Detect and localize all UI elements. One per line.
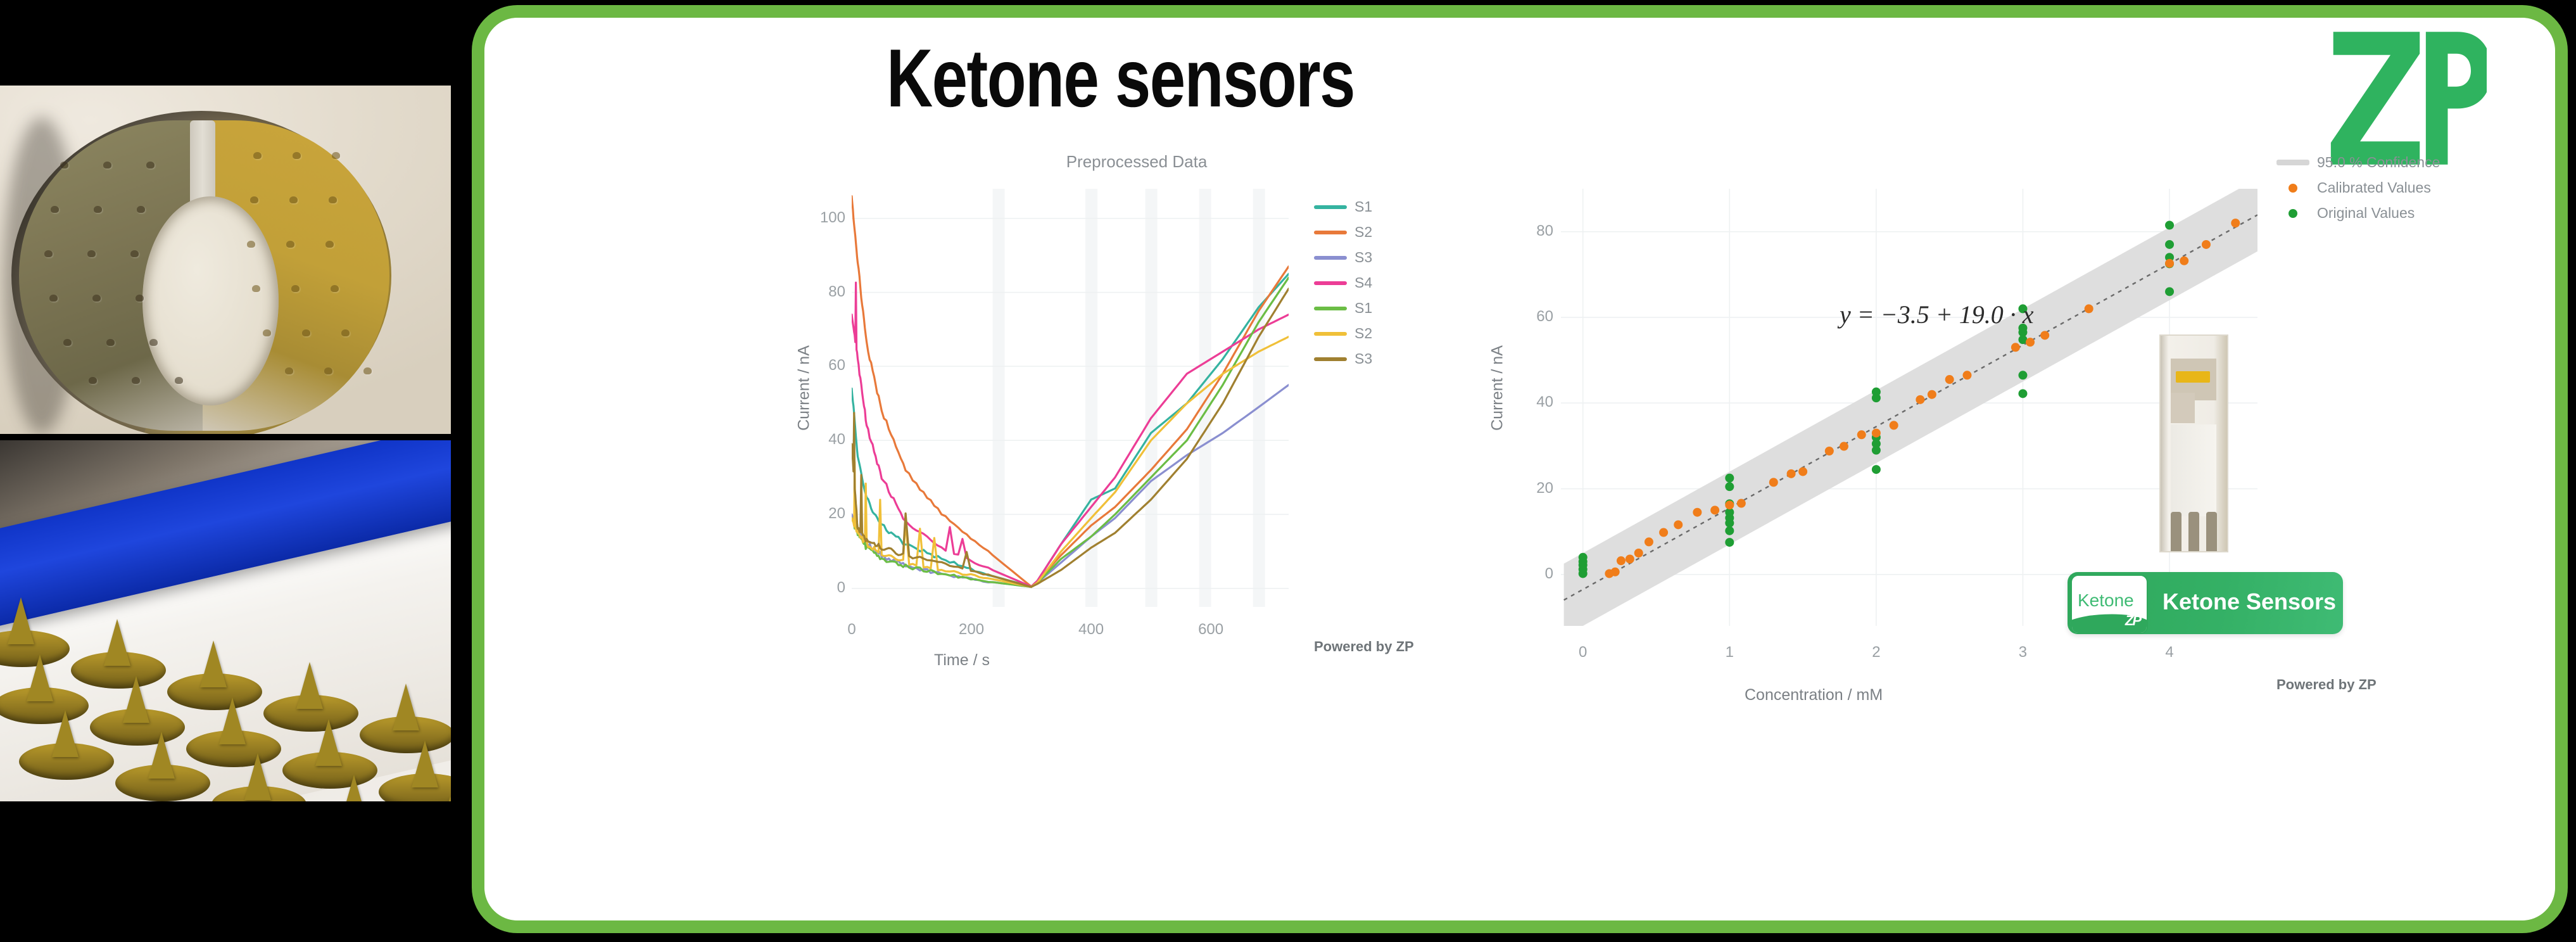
needle-dot	[341, 329, 350, 336]
needle-dot	[63, 339, 72, 346]
original-value-point	[1725, 474, 1734, 483]
needle-dot	[325, 241, 334, 248]
plot-area	[852, 189, 1289, 607]
y-tick-label: 20	[1522, 480, 1553, 497]
legend-item: S1	[1314, 198, 1372, 215]
shaded-band	[1199, 189, 1211, 607]
needle-dot	[103, 162, 111, 169]
legend-swatch	[2276, 160, 2309, 165]
y-tick-label: 60	[1522, 308, 1553, 326]
needle-dot	[175, 377, 183, 384]
strip-body	[2171, 424, 2216, 516]
needle-tip	[104, 619, 130, 666]
x-tick-label: 0	[1564, 644, 1602, 661]
preprocessed-data-chart: Preprocessed Data Current / nA Time / s …	[757, 163, 1517, 734]
calibrated-value-point	[1634, 549, 1643, 557]
chart-legend: 95.0 % ConfidenceCalibrated ValuesOrigin…	[2276, 154, 2440, 230]
line-S1	[852, 274, 1289, 587]
y-axis-label: Current / nA	[795, 325, 814, 452]
shaded-band	[993, 189, 1005, 607]
x-axis-label: Time / s	[934, 651, 990, 670]
calibrated-value-point	[2085, 304, 2093, 313]
plot-area	[1561, 189, 2257, 626]
needle-dot	[89, 377, 97, 384]
legend-swatch	[1314, 281, 1347, 285]
calibrated-value-point	[1787, 469, 1796, 478]
calibrated-value-point	[1617, 556, 1626, 565]
calibrated-value-point	[2231, 219, 2240, 227]
needle-dot	[87, 250, 96, 257]
y-tick-label: 80	[815, 283, 845, 301]
zp-logo-icon: ZP	[2125, 613, 2140, 629]
legend-label: S3	[1354, 350, 1372, 367]
calibrated-value-point	[1890, 421, 1898, 430]
zp-logo-icon	[2328, 25, 2487, 171]
original-value-point	[2018, 389, 2027, 398]
microneedle-patch-photo	[0, 86, 451, 434]
needle-dot	[329, 196, 337, 203]
y-tick-label: 60	[815, 357, 845, 374]
legend-dot	[2289, 184, 2297, 193]
legend-dot	[2289, 209, 2297, 218]
calibrated-value-point	[1798, 467, 1807, 476]
line-series-svg	[852, 189, 1289, 607]
original-value-point	[1872, 465, 1881, 474]
legend-label: Original Values	[2317, 205, 2415, 222]
calibrated-value-point	[1737, 499, 1746, 508]
chart-title: Preprocessed Data	[757, 152, 1517, 172]
legend-item: S2	[1314, 325, 1372, 342]
y-axis-label: Current / nA	[1489, 319, 1507, 458]
needle-dot	[263, 329, 271, 336]
needle-dot	[49, 295, 58, 302]
sensor-strip-inset-photo	[2159, 334, 2228, 552]
calibrated-value-point	[1945, 375, 1954, 384]
calibrated-value-point	[2026, 338, 2035, 347]
calibration-curve-chart: y = −3.5 + 19.0 · x Current / nA Concent…	[1434, 163, 2511, 778]
needle-dot	[132, 377, 140, 384]
needle-tip	[148, 732, 175, 779]
slide-content: Ketone sensors Preprocessed Data Current…	[484, 18, 2555, 920]
photo-column	[0, 0, 451, 942]
legend-item: Original Values	[2276, 205, 2440, 222]
x-tick-label: 0	[833, 621, 871, 639]
needle-dot	[149, 339, 158, 346]
x-tick-label: 200	[952, 621, 990, 639]
needle-dot	[146, 162, 155, 169]
legend-label: S3	[1354, 249, 1372, 266]
calibrated-value-point	[1693, 508, 1702, 517]
y-tick-label: 20	[815, 505, 845, 523]
needle-dot	[332, 152, 340, 159]
calibrated-value-point	[1962, 371, 1971, 379]
needle-dot	[302, 329, 310, 336]
x-tick-label: 3	[2004, 644, 2042, 661]
needle-tip	[315, 719, 342, 766]
calibrated-value-point	[1626, 554, 1634, 563]
calibrated-value-point	[1840, 442, 1848, 451]
x-tick-label: 400	[1072, 621, 1110, 639]
needle-tip	[123, 676, 149, 723]
needle-dot	[137, 206, 145, 213]
calibrated-value-point	[2165, 259, 2174, 268]
calibrated-value-point	[1769, 478, 1778, 487]
needle-dot	[51, 206, 59, 213]
legend-item: S4	[1314, 274, 1372, 291]
needle-tip	[219, 697, 246, 744]
legend-label: S1	[1354, 300, 1372, 317]
needle-dot	[293, 152, 301, 159]
legend-swatch	[1314, 205, 1347, 209]
calibrated-value-point	[2202, 240, 2211, 249]
line-S2	[852, 337, 1289, 587]
legend-swatch	[1314, 231, 1347, 234]
shaded-band	[1146, 189, 1158, 607]
legend-label: S1	[1354, 198, 1372, 215]
y-tick-label: 40	[815, 431, 845, 449]
original-value-point	[1725, 482, 1734, 491]
needle-dot	[130, 250, 139, 257]
legend-label: 95.0 % Confidence	[2317, 154, 2440, 171]
legend-label: S2	[1354, 224, 1372, 241]
calibrated-value-point	[1928, 390, 1936, 399]
legend-item: S2	[1314, 224, 1372, 241]
legend-swatch	[1314, 332, 1347, 336]
calibrated-value-point	[2040, 331, 2049, 340]
needle-tip	[296, 662, 323, 709]
needle-dot	[289, 196, 298, 203]
legend-swatch	[1314, 357, 1347, 361]
legend-label: Calibrated Values	[2317, 179, 2431, 196]
needle-dot	[286, 241, 294, 248]
ketone-product-chip: Ketone ZP	[2071, 575, 2148, 634]
legend-item: 95.0 % Confidence	[2276, 154, 2440, 171]
scatter-series-svg	[1561, 189, 2257, 626]
powered-by-label: Powered by ZP	[1314, 639, 1414, 655]
original-value-point	[2165, 221, 2174, 230]
x-tick-label: 600	[1192, 621, 1230, 639]
needle-dot	[285, 367, 293, 374]
powered-by-label: Powered by ZP	[2276, 677, 2377, 693]
original-value-point	[1725, 538, 1734, 547]
slide-frame: Ketone sensors Preprocessed Data Current…	[472, 5, 2568, 933]
needle-tip	[393, 684, 419, 730]
x-axis-label: Concentration / mM	[1745, 686, 1883, 704]
needle-tip	[8, 597, 34, 644]
original-value-point	[1872, 388, 1881, 397]
line-S2	[852, 196, 1289, 587]
calibrated-value-point	[2011, 343, 2020, 352]
badge-label: Ketone Sensors	[2162, 589, 2336, 615]
fit-equation-annotation: y = −3.5 + 19.0 · x	[1840, 300, 2033, 329]
x-tick-label: 2	[1857, 644, 1895, 661]
y-tick-label: 0	[815, 579, 845, 597]
needle-dot	[253, 152, 262, 159]
needle-dot	[250, 196, 258, 203]
legend-item: S1	[1314, 300, 1372, 317]
original-value-point	[1579, 553, 1588, 562]
y-tick-label: 40	[1522, 393, 1553, 411]
calibrated-value-point	[2180, 257, 2188, 265]
ketone-sensors-badge[interactable]: Ketone ZP Ketone Sensors	[2068, 572, 2343, 634]
needle-tip	[200, 640, 227, 687]
legend-swatch	[1314, 307, 1347, 310]
needle-dot	[291, 285, 300, 292]
strip-gold-contact	[2176, 371, 2210, 383]
y-tick-label: 80	[1522, 222, 1553, 240]
needle-tip	[412, 741, 438, 787]
strip-leg	[2206, 512, 2217, 551]
strip-tab	[2171, 393, 2195, 423]
needle-dot	[44, 250, 53, 257]
needle-tip	[244, 753, 271, 800]
needle-tip	[52, 710, 79, 757]
needle-dot	[106, 339, 115, 346]
legend-item: Calibrated Values	[2276, 179, 2440, 196]
legend-swatch	[1314, 256, 1347, 260]
y-tick-label: 0	[1522, 565, 1553, 583]
needle-dot	[252, 285, 260, 292]
legend-item: S3	[1314, 249, 1372, 266]
strip-leg	[2171, 512, 2181, 551]
page-title: Ketone sensors	[887, 30, 1354, 125]
original-value-point	[2165, 240, 2174, 249]
needle-dot	[247, 241, 255, 248]
needle-tip	[27, 654, 53, 701]
original-value-point	[2018, 371, 2027, 379]
needle-tip	[341, 775, 367, 801]
needle-dot	[331, 285, 339, 292]
calibrated-value-point	[1872, 429, 1881, 438]
original-value-point	[1725, 526, 1734, 535]
calibrated-value-point	[1659, 528, 1668, 537]
needle-dot	[363, 367, 372, 374]
calibrated-value-point	[1674, 520, 1683, 529]
x-tick-label: 4	[2150, 644, 2188, 661]
legend-item: S3	[1314, 350, 1372, 367]
microneedle-closeup-photo	[0, 440, 451, 801]
calibrated-value-point	[1710, 506, 1719, 514]
calibrated-value-point	[1916, 395, 1924, 404]
needle-dot	[324, 367, 332, 374]
original-value-point	[2165, 287, 2174, 296]
needle-dot	[92, 295, 101, 302]
calibrated-value-point	[1611, 568, 1620, 576]
needle-tip	[437, 796, 451, 801]
shaded-band	[1253, 189, 1265, 607]
chart-legend: S1S2S3S4S1S2S3	[1314, 198, 1372, 376]
x-tick-label: 1	[1710, 644, 1748, 661]
legend-label: S2	[1354, 325, 1372, 342]
calibrated-value-point	[1645, 537, 1653, 546]
strip-leg	[2188, 512, 2199, 551]
calibrated-value-point	[1725, 500, 1734, 509]
legend-label: S4	[1354, 274, 1372, 291]
y-tick-label: 100	[815, 209, 845, 227]
needle-dot	[94, 206, 102, 213]
needle-dot	[136, 295, 144, 302]
patch-center-hole	[142, 196, 279, 405]
needle-dot	[60, 162, 68, 169]
calibrated-value-point	[1857, 430, 1866, 439]
ketone-chip-label: Ketone	[2078, 590, 2134, 611]
calibrated-value-point	[1825, 447, 1834, 455]
